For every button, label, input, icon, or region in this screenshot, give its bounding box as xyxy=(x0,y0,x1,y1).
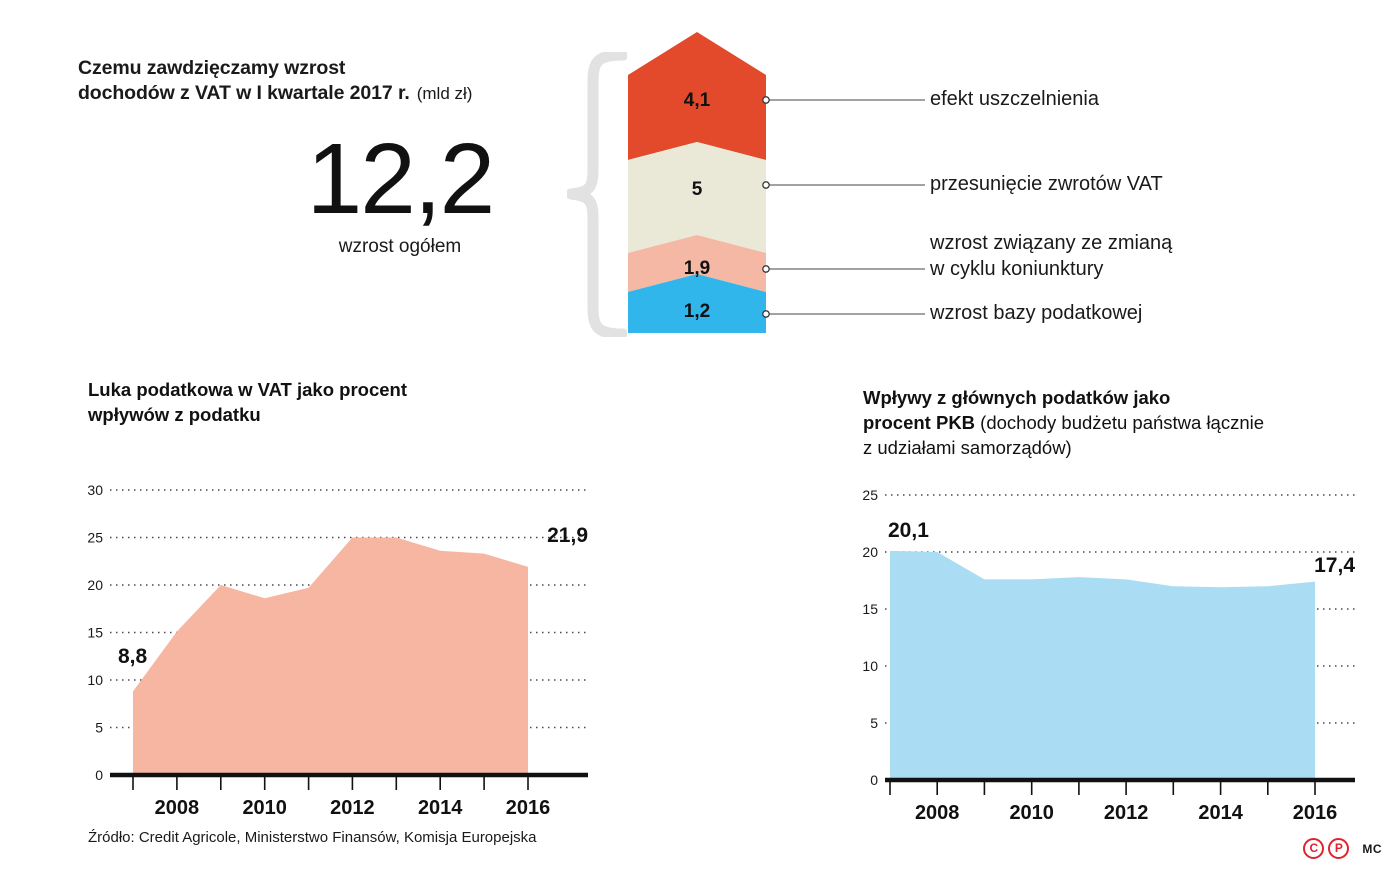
x-axis-ticks xyxy=(890,782,1315,795)
x-tick-label-2012: 2012 xyxy=(1104,802,1149,820)
total-growth-value: 12,2 xyxy=(250,130,550,228)
headline-line-1: Czemu zawdzięczamy wzrost xyxy=(78,56,558,81)
x-axis-ticks xyxy=(133,777,528,790)
y-tick-label-20: 20 xyxy=(862,544,878,560)
chart-right-title-line3: z udziałami samorządów) xyxy=(863,435,1363,460)
x-tick-label-2014: 2014 xyxy=(1198,802,1243,820)
chart-left-title-line2: wpływów z podatku xyxy=(88,402,558,427)
leader-dot-3 xyxy=(763,266,769,272)
annotation-start-value: 20,1 xyxy=(888,519,929,542)
headline-line-2: dochodów z VAT w I kwartale 2017 r.(mld … xyxy=(78,81,558,106)
legend-label-cykl-koniunktury-line1: wzrost związany ze zmianą xyxy=(930,230,1172,256)
x-tick-label-2016: 2016 xyxy=(506,797,551,819)
y-tick-label-10: 10 xyxy=(862,658,878,674)
y-tick-label-10: 10 xyxy=(87,672,103,688)
bar-value-baza-podatkowa: 1,2 xyxy=(684,301,710,322)
annotation-end-value: 21,9 xyxy=(547,524,588,547)
legend-label-baza-podatkowa: wzrost bazy podatkowej xyxy=(930,300,1142,326)
x-tick-label-2010: 2010 xyxy=(1009,802,1053,820)
vat-growth-breakdown-panel: Czemu zawdzięczamy wzrost dochodów z VAT… xyxy=(0,0,1400,350)
leader-dot-2 xyxy=(763,182,769,188)
y-tick-label-25: 25 xyxy=(87,530,103,546)
x-tick-label-2016: 2016 xyxy=(1293,802,1338,820)
y-tick-label-15: 15 xyxy=(87,625,103,641)
chart-right-title: Wpływy z głównych podatków jako procent … xyxy=(863,385,1363,460)
legend-label-cykl-koniunktury: wzrost związany ze zmianą w cyklu koniun… xyxy=(930,230,1172,282)
author-initials: MC xyxy=(1362,842,1382,856)
headline-text-2: dochodów z VAT w I kwartale 2017 r. xyxy=(78,82,410,104)
y-tick-label-0: 0 xyxy=(95,767,103,783)
bar-value-cykl-koniunktury: 1,9 xyxy=(684,258,710,279)
bar-value-przesuniecie-zwrotow: 5 xyxy=(692,179,703,200)
chart-left-title: Luka podatkowa w VAT jako procent wpływó… xyxy=(88,377,558,427)
leader-lines xyxy=(755,20,935,345)
y-tick-label-0: 0 xyxy=(870,772,878,788)
y-tick-label-5: 5 xyxy=(95,720,103,736)
headline-unit: (mld zł) xyxy=(417,84,473,103)
annotation-end-value: 17,4 xyxy=(1314,554,1355,577)
headline: Czemu zawdzięczamy wzrost dochodów z VAT… xyxy=(78,56,558,106)
bar-value-efekt-uszczelnienia: 4,1 xyxy=(684,90,711,111)
y-tick-label-5: 5 xyxy=(870,715,878,731)
y-tick-label-30: 30 xyxy=(87,482,103,498)
x-tick-label-2012: 2012 xyxy=(330,797,375,819)
x-tick-label-2010: 2010 xyxy=(242,797,287,819)
published-icon: P xyxy=(1328,838,1349,859)
chart-right-title-line2-bold: procent PKB xyxy=(863,412,975,433)
chart-right-title-line2: procent PKB (dochody budżetu państwa łąc… xyxy=(863,410,1363,435)
legend-label-efekt-uszczelnienia: efekt uszczelnienia xyxy=(930,86,1099,112)
chart-wplywy-podatkow-pkb: 25 20 15 10 5 0 2008 2010 2012 2014 2016… xyxy=(845,465,1375,820)
chart-left-title-line1: Luka podatkowa w VAT jako procent xyxy=(88,377,558,402)
legend-label-przesuniecie-zwrotow: przesunięcie zwrotów VAT xyxy=(930,171,1163,197)
x-tick-label-2008: 2008 xyxy=(155,797,200,819)
total-growth-figure: 12,2 wzrost ogółem xyxy=(250,130,550,258)
legend-label-cykl-koniunktury-line2: w cyklu koniunktury xyxy=(930,256,1172,282)
source-note: Źródło: Credit Agricole, Ministerstwo Fi… xyxy=(88,829,537,846)
area-series-wplywy-pkb xyxy=(890,551,1315,780)
leader-dot-4 xyxy=(763,311,769,317)
y-tick-label-15: 15 xyxy=(862,601,878,617)
leader-dot-1 xyxy=(763,97,769,103)
curly-brace-icon xyxy=(567,52,627,337)
area-series-luka-podatkowa xyxy=(133,538,528,776)
x-tick-label-2014: 2014 xyxy=(418,797,463,819)
x-tick-label-2008: 2008 xyxy=(915,802,960,820)
headline-text-1: Czemu zawdzięczamy wzrost xyxy=(78,57,345,79)
annotation-start-value: 8,8 xyxy=(118,645,148,668)
chart-luka-podatkowa-vat: 30 25 20 15 10 5 0 2008 2010 2012 2014 2… xyxy=(70,450,610,820)
chart-right-title-line2-rest: (dochody budżetu państwa łącznie xyxy=(975,412,1264,433)
chart-right-title-line1: Wpływy z głównych podatków jako xyxy=(863,385,1363,410)
credits: C P MC xyxy=(1303,838,1382,859)
total-growth-caption: wzrost ogółem xyxy=(250,236,550,258)
copyright-icon: C xyxy=(1303,838,1324,859)
y-tick-label-25: 25 xyxy=(862,487,878,503)
y-tick-label-20: 20 xyxy=(87,577,103,593)
